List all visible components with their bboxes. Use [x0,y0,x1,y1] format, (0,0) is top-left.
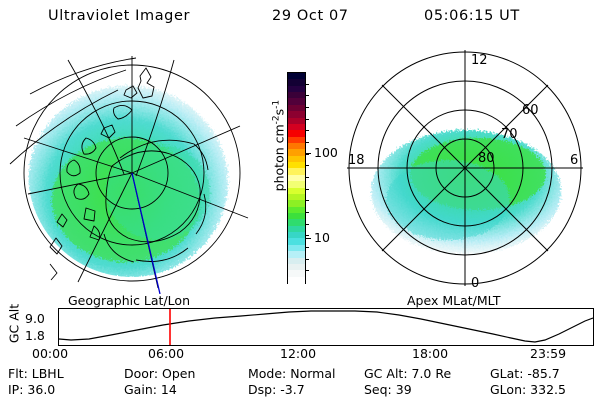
colorbar-minor-tick [305,224,309,225]
colorbar-minor-tick [305,247,309,248]
colorbar-minor-tick [305,130,309,131]
status-glon: GLon: 332.5 [490,382,566,397]
colorbar-unit-exp2: -1 [271,100,281,109]
colorbar-minor-tick [305,84,309,85]
time-tick-4: 23:59 [530,346,566,361]
colorbar-minor-tick [305,200,309,201]
instrument-title: Ultraviolet Imager [48,8,190,24]
mlat-label-70: 70 [501,127,518,142]
colorbar-minor-tick [305,189,309,190]
mlt-plot-canvas: 12 6 0 18 60 70 80 [338,42,596,294]
mlt-spokes [347,50,583,286]
altitude-trace [59,311,593,342]
geographic-polar-plot[interactable] [8,42,252,294]
colorbar-tick-label: 10 [314,230,330,245]
status-flt: Flt: LBHL [8,366,64,381]
colorbar-minor-tick [305,95,309,96]
header-bar: Ultraviolet Imager 29 Oct 07 05:06:15 UT [0,6,600,30]
orbit-altitude-canvas [59,309,593,345]
gc-alt-axis-label: GC Alt [7,294,22,354]
apex-mlat-mlt-plot[interactable]: 12 6 0 18 60 70 80 [338,42,596,294]
status-dsp: Dsp: -3.7 [248,382,305,397]
time-tick-3: 18:00 [412,346,448,361]
colorbar-unit-exp1: -2 [271,115,281,124]
time-tick-2: 12:00 [280,346,316,361]
colorbar-minor-tick [305,119,309,120]
mlat-label-80: 80 [478,151,495,166]
colorbar-major-tick [305,153,311,154]
colorbar-minor-tick [305,235,309,236]
status-ip: IP: 36.0 [8,382,55,397]
orbit-panel-subtitles: Geographic Lat/Lon Apex MLat/MLT [0,293,600,309]
colorbar-tick-label: 100 [314,145,338,160]
observation-date: 29 Oct 07 [272,8,349,24]
mlt-label-12: 12 [471,53,488,68]
status-seq: Seq: 39 [364,382,412,397]
colorbar-unit-main: photon cm [272,124,287,191]
status-door: Door: Open [124,366,195,381]
colorbar-minor-tick [305,270,309,271]
colorbar-minor-tick [305,177,309,178]
colorbar-gradient-box [287,72,306,284]
status-mode: Mode: Normal [248,366,335,381]
colorbar-minor-tick [305,259,309,260]
colorbar-minor-tick [305,107,309,108]
mlt-label-18: 18 [348,153,365,168]
gc-alt-tick-low: 1.8 [25,328,45,343]
time-axis-labels: 00:00 06:00 12:00 18:00 23:59 [0,346,600,364]
colorbar: photon cm-2s-1 10010 [256,60,336,300]
time-tick-0: 00:00 [32,346,68,361]
mlt-label-6: 6 [570,153,578,168]
observation-time: 05:06:15 UT [424,8,520,24]
orbit-altitude-plot[interactable] [58,308,594,346]
colorbar-unit-mid: s [272,109,287,116]
status-gcalt: GC Alt: 7.0 Re [364,366,451,381]
gc-alt-tick-high: 9.0 [25,311,45,326]
colorbar-segment [288,277,305,284]
mlat-label-60: 60 [522,103,539,118]
mlt-label-0: 0 [471,276,479,291]
colorbar-axis-label: photon cm-2s-1 [271,81,286,211]
colorbar-major-tick [305,238,311,239]
status-glat: GLat: -85.7 [490,366,560,381]
colorbar-minor-tick [305,142,309,143]
status-footer: Flt: LBHL Door: Open Mode: Normal GC Alt… [0,366,600,400]
status-gain: Gain: 14 [124,382,177,397]
colorbar-minor-tick [305,165,309,166]
colorbar-minor-tick [305,212,309,213]
geographic-subtitle: Geographic Lat/Lon [68,293,190,308]
geographic-plot-canvas [8,42,252,294]
mlt-subtitle: Apex MLat/MLT [407,293,501,308]
time-tick-1: 06:00 [148,346,184,361]
